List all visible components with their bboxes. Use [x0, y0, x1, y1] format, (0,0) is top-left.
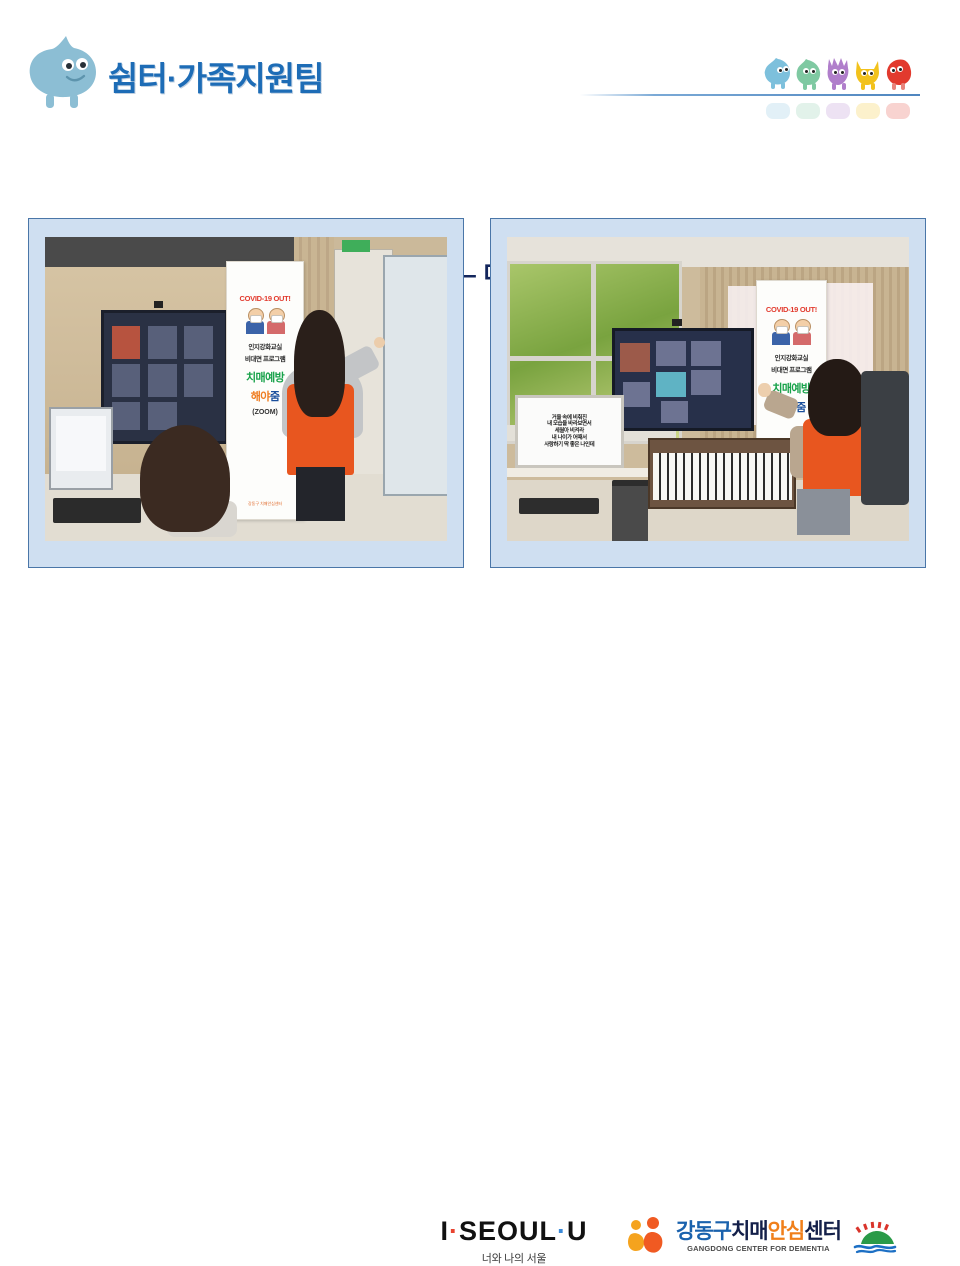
video-tile [656, 341, 686, 366]
lyric-line: 세월아 비켜라 [555, 428, 584, 435]
seoul-i: I [440, 1216, 449, 1246]
photo-left-image: COVID-19 OUT! 인지강화교실 비대면 프로그램 치매예방 해야줌 [45, 237, 447, 541]
banner-highlight-mix: 해야줌 [251, 388, 280, 404]
person-at-computer [133, 425, 246, 541]
lyrics-display-screen: 거울 속에 비춰진 내 모습을 바라보면서 세월아 비켜라 내 나이가 어때서 … [515, 395, 624, 468]
photo-classroom-zoom-session: COVID-19 OUT! 인지강화교실 비대면 프로그램 치매예방 해야줌 [28, 218, 464, 568]
video-tile [184, 326, 213, 359]
video-tile [623, 382, 650, 407]
mini-mascot-row [762, 52, 922, 94]
monitor-screen [56, 416, 107, 471]
gd-part-gangdong: 강동구 [676, 1220, 731, 1243]
video-tile [691, 341, 721, 366]
video-tile [112, 364, 141, 397]
photo-piano-music-session: 거울 속에 비춰진 내 모습을 바라보면서 세월아 비켜라 내 나이가 어때서 … [490, 218, 926, 568]
slide-footer: I·SEOUL·U 너와 나의 서울 강동구치매안심센터 GANGDONG CE… [0, 600, 960, 680]
office-chair [861, 371, 909, 505]
exit-sign-icon [342, 240, 370, 252]
banner-line1: 인지강화교실 [248, 341, 281, 351]
tv-screen [101, 310, 228, 444]
lyric-line: 사랑하기 딱 좋은 나인데 [544, 442, 594, 449]
mini-mascot-reflection [762, 97, 922, 123]
video-tile [112, 326, 141, 359]
legs [797, 489, 850, 535]
tv-screen [612, 328, 755, 431]
mini-mascot-green [797, 59, 821, 90]
mini-mascot-yellow [856, 61, 879, 90]
i-seoul-u-logo: I·SEOUL·U 너와 나의 서울 [424, 1216, 604, 1266]
seoul-red-dot: · [449, 1216, 459, 1246]
video-tile [148, 364, 177, 397]
legs [296, 467, 346, 521]
webcam-icon [154, 301, 163, 308]
hair [808, 359, 866, 437]
gangdong-korean-name: 강동구치매안심센터 [676, 1221, 841, 1242]
seoul-blue-dot: · [557, 1216, 567, 1246]
pc-tower [612, 486, 648, 541]
video-tile [148, 326, 177, 359]
lyric-line: 내 나이가 어때서 [552, 435, 587, 442]
hair [294, 310, 345, 417]
i-seoul-u-wordmark: I·SEOUL·U [424, 1216, 604, 1247]
subtitle-bar: 인지강화교실 비대면 프로그램 진행 – 매 주 화, 목 [0, 124, 960, 174]
whiteboard [383, 255, 447, 496]
desk-surface [507, 468, 668, 477]
mini-mascot-blue [765, 58, 790, 89]
banner-covid-text: COVID-19 OUT! [240, 294, 291, 303]
keyboard [519, 498, 599, 513]
masked-elder-icon [793, 319, 811, 345]
gangdong-gu-emblem-icon [851, 1220, 903, 1254]
video-tile [184, 364, 213, 397]
banner-haeya: 해야 [251, 391, 270, 403]
gd-part-chimae: 치매 [731, 1220, 768, 1243]
digital-piano [648, 438, 797, 509]
banner-zoom-label: (ZOOM) [252, 409, 278, 416]
gd-part-center: 센터 [804, 1220, 841, 1243]
banner-figures [772, 319, 811, 345]
gangdong-wordmark: 강동구치매안심센터 GANGDONG CENTER FOR DEMENTIA [676, 1221, 841, 1253]
masked-elder-icon [246, 308, 264, 334]
video-tile [656, 372, 686, 397]
gangdong-dementia-center-logo: 강동구치매안심센터 GANGDONG CENTER FOR DEMENTIA [624, 1214, 903, 1260]
gd-part-ansim: 안심 [768, 1220, 805, 1243]
desktop-monitor [49, 407, 113, 490]
video-tile [691, 370, 721, 395]
banner-covid-text: COVID-19 OUT! [766, 305, 817, 314]
seoul-tagline: 너와 나의 서울 [424, 1250, 604, 1266]
slide-root: 쉼터·가족지원팀 [0, 0, 960, 720]
blue-blob-mascot-icon [22, 32, 108, 110]
mini-mascot-purple [828, 58, 849, 90]
header-divider [580, 94, 920, 96]
seoul-word: SEOUL [459, 1216, 557, 1246]
person-at-whiteboard [278, 310, 366, 517]
mini-mascot-red [887, 60, 911, 90]
seoul-u: U [567, 1216, 588, 1246]
video-tile [661, 401, 688, 422]
gangdong-english-name: GANGDONG CENTER FOR DEMENTIA [676, 1245, 841, 1253]
webcam-icon [672, 319, 682, 326]
hand [374, 337, 385, 348]
banner-center-logo: 강동구 치매안심센터 [248, 501, 282, 507]
slide-header: 쉼터·가족지원팀 [0, 0, 960, 120]
gangdong-symbol-icon [624, 1217, 670, 1257]
photo-right-image: 거울 속에 비춰진 내 모습을 바라보면서 세월아 비켜라 내 나이가 어때서 … [507, 237, 909, 541]
keyboard [53, 498, 141, 522]
page-title: 쉼터·가족지원팀 [108, 52, 324, 100]
hair [140, 425, 230, 532]
masked-elder-icon [772, 319, 790, 345]
video-tile [620, 343, 650, 372]
piano-keys [653, 453, 792, 500]
